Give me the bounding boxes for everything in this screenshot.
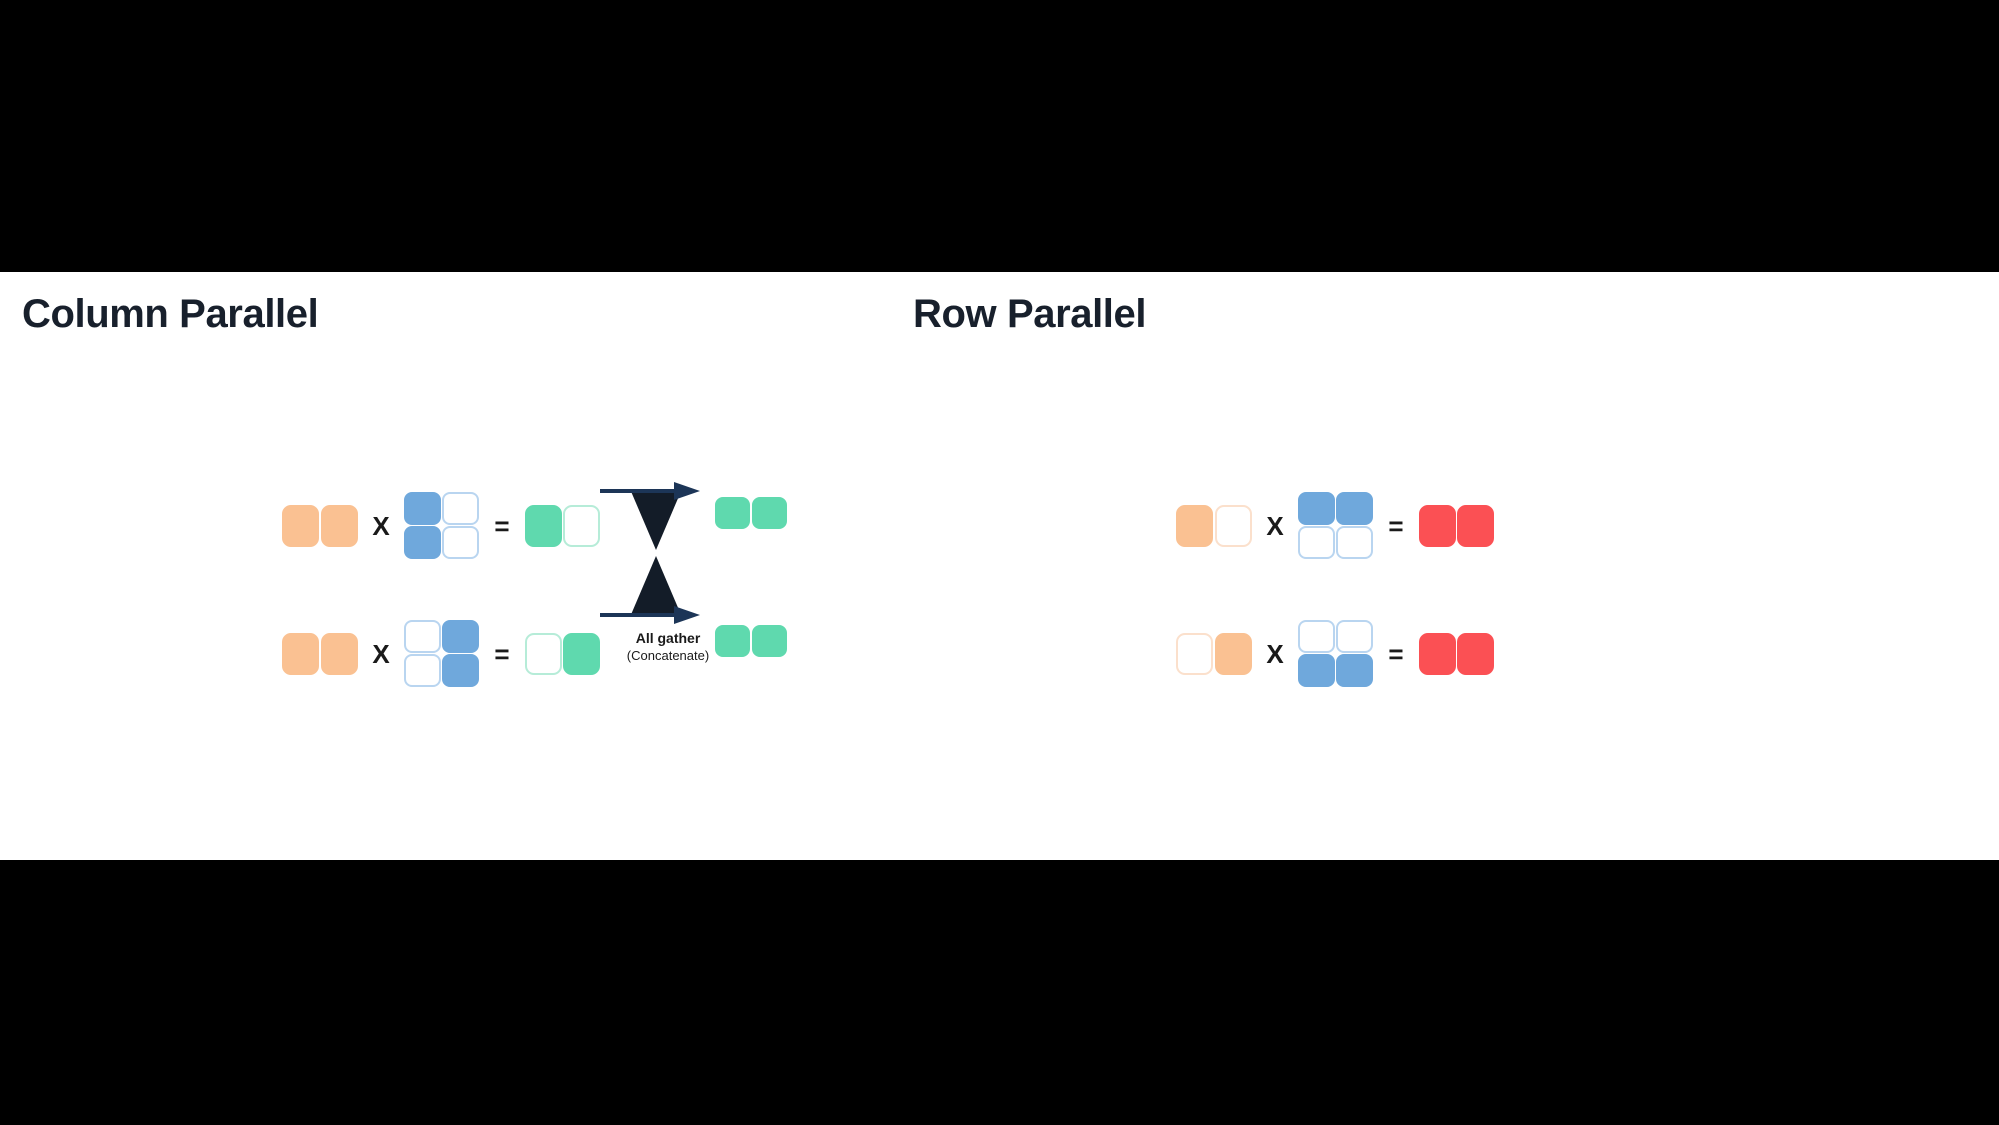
partial-output-vector xyxy=(525,505,600,547)
diagram-content-area: Column Parallel X = xyxy=(0,272,1999,860)
matrix-cell xyxy=(525,633,562,675)
equation-row: X = xyxy=(1176,492,1494,559)
input-vector xyxy=(1176,633,1252,675)
letterbox-bottom xyxy=(0,860,1999,1125)
equals-symbol: = xyxy=(1373,641,1419,667)
matrix-cell xyxy=(1336,492,1373,525)
partial-output-vector xyxy=(1419,505,1494,547)
multiply-symbol: X xyxy=(1252,513,1298,539)
matrix-cell xyxy=(1215,505,1252,547)
matrix-cell xyxy=(1336,620,1373,653)
weight-matrix xyxy=(404,620,479,687)
matrix-cell xyxy=(1298,492,1335,525)
equals-symbol: = xyxy=(1373,513,1419,539)
matrix-cell xyxy=(404,654,441,687)
matrix-cell xyxy=(525,505,562,547)
matrix-cell xyxy=(1298,654,1335,687)
matrix-cell xyxy=(442,620,479,653)
equation-row: X = xyxy=(1176,620,1494,687)
gathered-output-vector xyxy=(715,497,787,529)
weight-matrix xyxy=(1298,492,1373,559)
weight-matrix xyxy=(1298,620,1373,687)
matrix-cell xyxy=(1336,526,1373,559)
matrix-cell xyxy=(404,492,441,525)
matrix-cell xyxy=(1298,620,1335,653)
matrix-cell xyxy=(1298,526,1335,559)
input-vector xyxy=(1176,505,1252,547)
matrix-cell xyxy=(442,654,479,687)
gathered-output-vector xyxy=(715,625,787,657)
matrix-cell xyxy=(1419,633,1456,675)
panel-title-row-parallel: Row Parallel xyxy=(913,292,1146,337)
matrix-cell xyxy=(752,497,787,529)
letterbox-top xyxy=(0,0,1999,272)
matrix-cell xyxy=(1336,654,1373,687)
equals-symbol: = xyxy=(479,641,525,667)
multiply-symbol: X xyxy=(358,641,404,667)
matrix-cell xyxy=(442,492,479,525)
matrix-cell xyxy=(1457,505,1494,547)
input-vector xyxy=(282,505,358,547)
matrix-cell xyxy=(321,505,358,547)
matrix-cell xyxy=(752,625,787,657)
partial-output-vector xyxy=(1419,633,1494,675)
equation-row: X = xyxy=(282,492,600,559)
equation-row: X = xyxy=(282,620,600,687)
weight-matrix xyxy=(404,492,479,559)
matrix-cell xyxy=(282,633,319,675)
equals-symbol: = xyxy=(479,513,525,539)
collective-op-all-gather: All gather (Concatenate) xyxy=(600,478,712,628)
panel-row-parallel: Row Parallel X = xyxy=(900,272,1999,860)
matrix-cell xyxy=(404,526,441,559)
matrix-cell xyxy=(1457,633,1494,675)
hourglass-arrows-icon xyxy=(600,478,712,628)
multiply-symbol: X xyxy=(1252,641,1298,667)
matrix-cell xyxy=(1419,505,1456,547)
matrix-cell xyxy=(563,505,600,547)
matrix-cell xyxy=(1176,505,1213,547)
matrix-cell xyxy=(282,505,319,547)
matrix-cell xyxy=(321,633,358,675)
matrix-cell xyxy=(442,526,479,559)
matrix-cell xyxy=(1215,633,1252,675)
matrix-cell xyxy=(1176,633,1213,675)
panel-title-column-parallel: Column Parallel xyxy=(22,292,318,337)
matrix-cell xyxy=(404,620,441,653)
matrix-cell xyxy=(715,625,750,657)
input-vector xyxy=(282,633,358,675)
figure-canvas: Column Parallel X = xyxy=(0,0,1999,1125)
matrix-cell xyxy=(715,497,750,529)
panel-column-parallel: Column Parallel X = xyxy=(0,272,900,860)
multiply-symbol: X xyxy=(358,513,404,539)
